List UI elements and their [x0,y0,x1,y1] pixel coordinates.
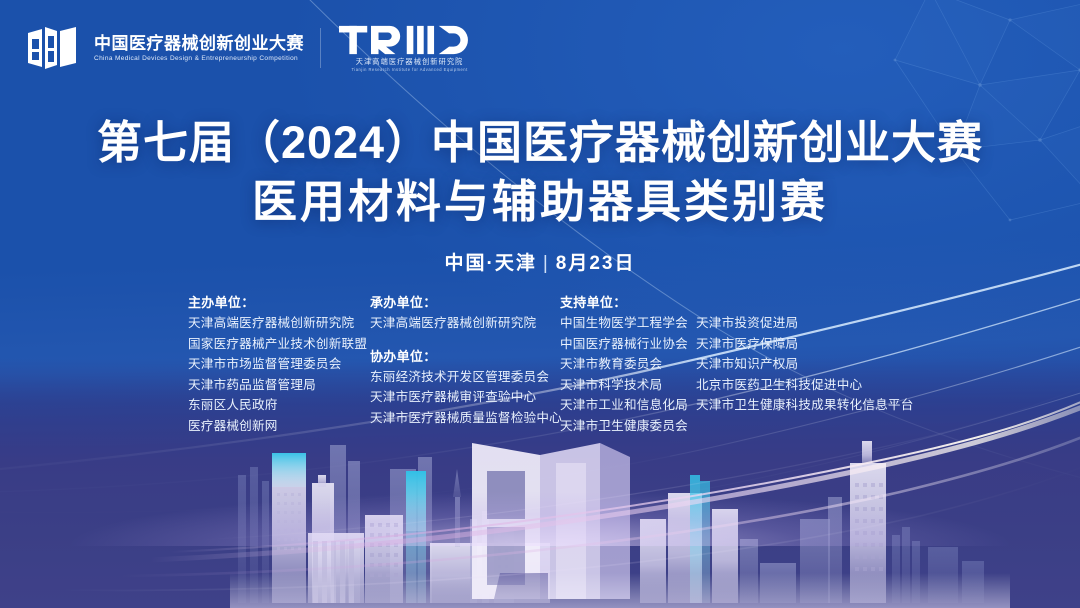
partner-name-cn: 天津高端医疗器械创新研究院 [356,58,464,66]
group-heading: 支持单位： [560,292,696,313]
city-skyline-silhouette [0,423,1080,608]
brand-text: 中国医疗器械创新创业大赛 China Medical Devices Desig… [94,35,304,62]
organizer-item: 天津市医疗器械审评查验中心 [370,387,560,408]
organizer-item: 天津市药品监督管理局 [188,375,370,396]
brand-divider [320,28,321,68]
trimd-logo-icon [339,24,480,56]
organizer-item: 天津市市场监督管理委员会 [188,354,370,375]
brand-title-cn: 中国医疗器械创新创业大赛 [94,35,304,53]
hero-location: 中国·天津 [445,253,537,274]
organizer-item: 国家医疗器械产业技术创新联盟 [188,334,370,355]
partner-name-en: Tianjin Research Institute for Advanced … [351,68,467,73]
organizer-item: 中国医疗器械行业协会 [560,334,696,355]
hero-titles: 第七届（2024）中国医疗器械创新创业大赛 医用材料与辅助器具类别赛 中国·天津… [0,116,1080,275]
organizers-block: 主办单位： 天津高端医疗器械创新研究院 国家医疗器械产业技术创新联盟 天津市市场… [188,292,962,436]
group-heading: 承办单位： [370,292,560,313]
organizer-item: 天津市教育委员会 [560,354,696,375]
open-door-gate-monument [472,443,630,599]
hero-divider: | [537,253,556,275]
event-poster: 中国医疗器械创新创业大赛 China Medical Devices Desig… [0,0,1080,608]
brand-title-en: China Medical Devices Design & Entrepren… [94,55,308,62]
ground-haze [0,476,1080,546]
hero-subtitle: 中国·天津|8月23日 [0,248,1080,275]
organizer-item: 东丽经济技术开发区管理委员会 [370,367,560,388]
organizer-item: 东丽区人民政府 [188,395,370,416]
group-heading: 协办单位： [370,346,560,367]
organizer-item: 天津市卫生健康科技成果转化信息平台 [696,395,914,416]
organizer-item: 天津市医疗器械质量监督检验中心 [370,408,560,429]
organizer-item: 天津高端医疗器械创新研究院 [370,313,560,334]
organizer-group: 天津市投资促进局 天津市医疗保障局 天津市知识产权局 北京市医药卫生科技促进中心… [696,292,914,416]
organizer-item: 天津市卫生健康委员会 [560,416,696,437]
organizer-item: 天津高端医疗器械创新研究院 [188,313,370,334]
open-door-gate-icon [26,25,78,71]
organizer-group: 主办单位： 天津高端医疗器械创新研究院 国家医疗器械产业技术创新联盟 天津市市场… [188,292,370,436]
organizers-column-3: 支持单位： 中国生物医学工程学会 中国医疗器械行业协会 天津市教育委员会 天津市… [560,292,696,436]
organizers-column-4: 天津市投资促进局 天津市医疗保障局 天津市知识产权局 北京市医药卫生科技促进中心… [696,292,914,416]
organizer-item: 天津市医疗保障局 [696,334,914,355]
organizer-item: 北京市医药卫生科技促进中心 [696,375,914,396]
organizer-group: 协办单位： 东丽经济技术开发区管理委员会 天津市医疗器械审评查验中心 天津市医疗… [370,346,560,429]
hero-date: 8月23日 [556,253,636,274]
brand-header: 中国医疗器械创新创业大赛 China Medical Devices Desig… [26,24,480,72]
hero-title-line2: 医用材料与辅助器具类别赛 [0,175,1080,230]
organizer-group: 支持单位： 中国生物医学工程学会 中国医疗器械行业协会 天津市教育委员会 天津市… [560,292,696,436]
organizer-item: 天津市投资促进局 [696,313,914,334]
organizer-item: 天津市知识产权局 [696,354,914,375]
organizer-item: 天津市科学技术局 [560,375,696,396]
hero-title-line1: 第七届（2024）中国医疗器械创新创业大赛 [0,116,1080,171]
organizer-group: 承办单位： 天津高端医疗器械创新研究院 [370,292,560,334]
organizers-column-2: 承办单位： 天津高端医疗器械创新研究院 协办单位： 东丽经济技术开发区管理委员会… [370,292,560,428]
organizer-item: 天津市工业和信息化局 [560,395,696,416]
group-heading: 主办单位： [188,292,370,313]
organizer-item: 中国生物医学工程学会 [560,313,696,334]
organizer-item: 医疗器械创新网 [188,416,370,437]
organizers-column-1: 主办单位： 天津高端医疗器械创新研究院 国家医疗器械产业技术创新联盟 天津市市场… [188,292,370,436]
partner-brand: 天津高端医疗器械创新研究院 Tianjin Research Institute… [339,24,480,72]
